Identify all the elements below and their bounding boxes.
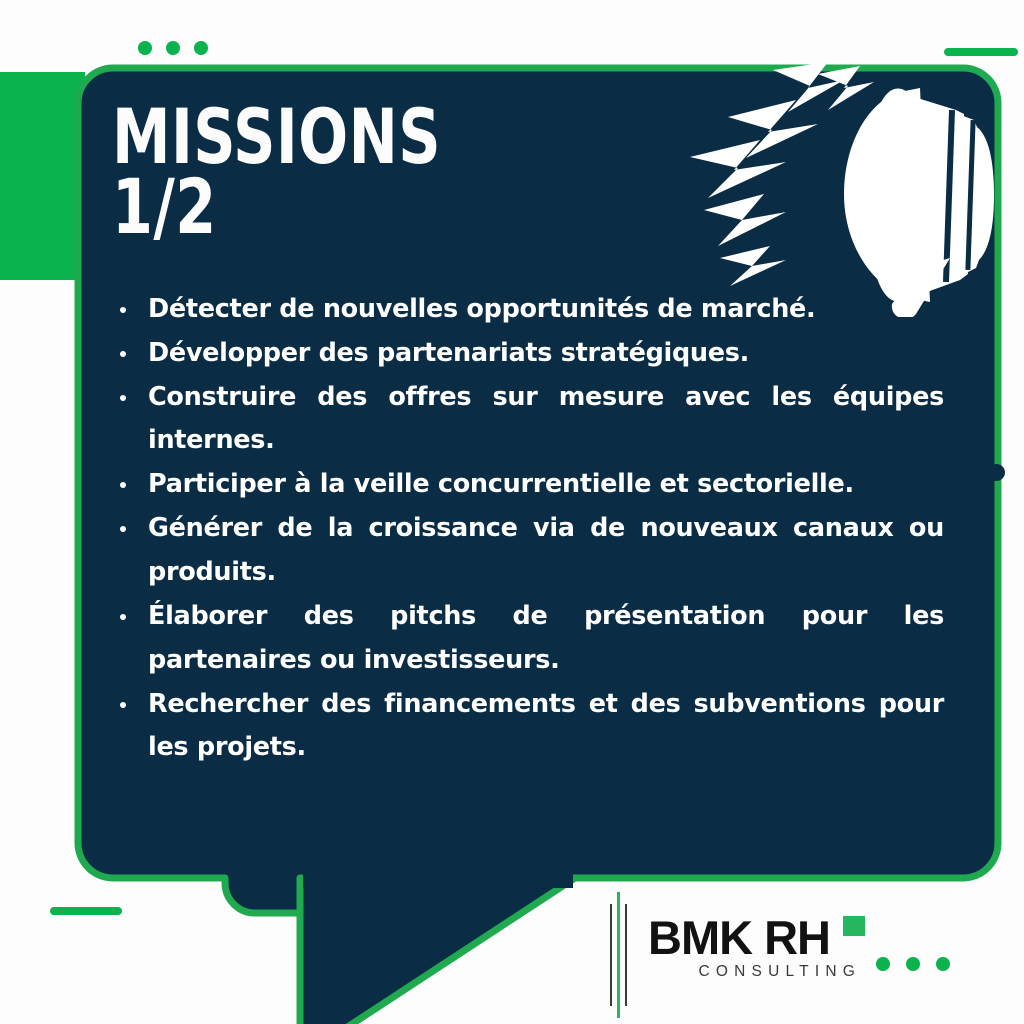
logo-name-text: BMK RH	[648, 911, 830, 964]
missions-list: Détecter de nouvelles opportunités de ma…	[112, 288, 944, 770]
list-item-text: Développer des partenariats stratégiques…	[148, 338, 749, 368]
list-item: Développer des partenariats stratégiques…	[112, 332, 944, 376]
logo: BMK RH CONSULTING	[606, 890, 866, 1020]
logo-vertical-lines-icon	[606, 890, 632, 1020]
list-item-text: Rechercher des financements et des subve…	[148, 683, 944, 771]
slide-canvas: MISSIONS 1/2 Détecter de nouvelles oppor…	[0, 0, 1024, 1024]
list-item: Rechercher des financements et des subve…	[112, 683, 944, 771]
logo-tagline: CONSULTING	[648, 963, 863, 981]
list-item: Générer de la croissance via de nouveaux…	[112, 507, 944, 595]
logo-h-accent	[843, 916, 865, 936]
list-item-text: Générer de la croissance via de nouveaux…	[148, 507, 944, 595]
list-item-text: Élaborer des pitchs de présentation pour…	[148, 595, 944, 683]
list-item: Élaborer des pitchs de présentation pour…	[112, 595, 944, 683]
list-item: Participer à la veille concurrentielle e…	[112, 463, 944, 507]
decorative-dot-right-edge	[988, 464, 1005, 481]
logo-line-green	[617, 892, 620, 1018]
list-item-text: Participer à la veille concurrentielle e…	[148, 469, 854, 499]
list-item-text: Construire des offres sur mesure avec le…	[148, 376, 944, 464]
megaphone-icon	[668, 62, 998, 317]
list-item: Construire des offres sur mesure avec le…	[112, 376, 944, 464]
logo-line	[610, 904, 612, 1006]
logo-text: BMK RH CONSULTING	[648, 914, 863, 981]
logo-line	[625, 904, 627, 1006]
logo-name: BMK RH	[648, 914, 863, 961]
